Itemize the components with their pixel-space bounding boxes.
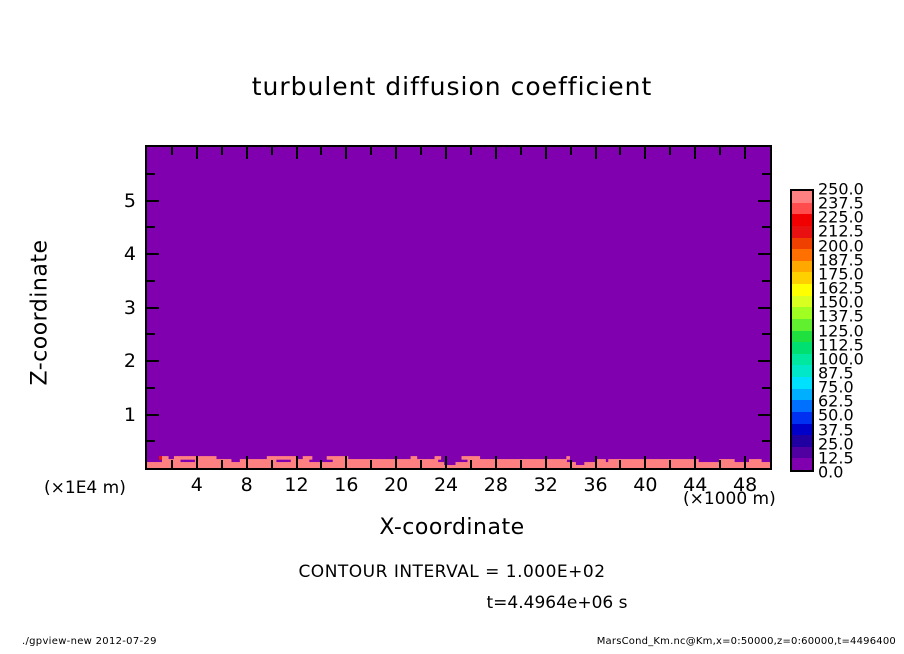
contour-plot-area[interactable] xyxy=(145,145,772,470)
x-axis-tick xyxy=(370,460,372,469)
x-axis-tick xyxy=(296,146,298,159)
y-axis-tick xyxy=(762,226,771,228)
x-axis-unit-label: (×1000 m) xyxy=(683,489,776,509)
y-axis-unit-label: (×1E4 m) xyxy=(44,478,126,498)
x-axis-tick xyxy=(570,460,572,469)
x-axis-tick xyxy=(495,146,497,159)
footer-command-label: ./gpview-new 2012-07-29 xyxy=(22,636,157,647)
y-axis-title: Z-coordinate xyxy=(28,213,53,413)
colorbar-band xyxy=(792,238,812,250)
x-axis-tick xyxy=(495,456,497,469)
y-axis-tick xyxy=(762,280,771,282)
x-axis-tick-label: 20 xyxy=(384,474,408,496)
y-axis-tick xyxy=(762,387,771,389)
x-axis-tick xyxy=(345,146,347,159)
x-axis-title: X-coordinate xyxy=(0,515,904,540)
y-axis-tick xyxy=(758,253,771,255)
y-axis-tick-label: 2 xyxy=(124,350,136,372)
x-axis-tick-label: 8 xyxy=(241,474,253,496)
y-axis-tick xyxy=(146,360,159,362)
x-axis-tick-label: 16 xyxy=(334,474,358,496)
x-axis-tick xyxy=(644,146,646,159)
y-axis-tick-label: 5 xyxy=(124,190,136,212)
x-axis-tick xyxy=(420,460,422,469)
x-axis-tick xyxy=(320,146,322,155)
x-axis-tick xyxy=(196,456,198,469)
x-axis-tick-label: 12 xyxy=(284,474,308,496)
y-axis-tick xyxy=(758,200,771,202)
y-axis-tick xyxy=(762,333,771,335)
colorbar[interactable] xyxy=(790,189,814,472)
x-axis-tick xyxy=(271,460,273,469)
y-axis-tick xyxy=(146,200,159,202)
colorbar-band xyxy=(792,412,812,424)
y-axis-tick-labels: 12345 xyxy=(100,0,136,654)
x-axis-tick xyxy=(445,146,447,159)
colorbar-band xyxy=(792,389,812,401)
x-axis-tick xyxy=(619,460,621,469)
x-axis-tick xyxy=(420,146,422,155)
x-axis-tick xyxy=(520,146,522,155)
colorbar-band xyxy=(792,191,812,203)
contour-interval-label: CONTOUR INTERVAL = 1.000E+02 xyxy=(0,562,904,582)
y-axis-tick xyxy=(762,440,771,442)
colorbar-tick-labels: 250.0237.5225.0212.5200.0187.5175.0162.5… xyxy=(818,180,898,480)
y-axis-tick xyxy=(146,253,159,255)
y-axis-tick xyxy=(146,226,155,228)
x-axis-tick xyxy=(296,456,298,469)
colorbar-band xyxy=(792,203,812,215)
colorbar-band xyxy=(792,424,812,436)
y-axis-tick-label: 1 xyxy=(124,404,136,426)
x-axis-tick xyxy=(694,146,696,159)
x-axis-tick-label: 24 xyxy=(434,474,458,496)
x-axis-tick xyxy=(595,146,597,159)
colorbar-band xyxy=(792,435,812,447)
x-axis-tick xyxy=(669,146,671,155)
x-axis-tick xyxy=(246,146,248,159)
footer-source-label: MarsCond_Km.nc@Km,x=0:50000,z=0:60000,t=… xyxy=(597,636,896,647)
y-axis-tick xyxy=(146,333,155,335)
colorbar-band xyxy=(792,249,812,261)
x-axis-tick xyxy=(644,456,646,469)
x-axis-tick xyxy=(345,456,347,469)
y-axis-tick xyxy=(758,414,771,416)
time-label: t=4.4964e+06 s xyxy=(0,593,904,613)
colorbar-band xyxy=(792,319,812,331)
x-axis-tick xyxy=(246,456,248,469)
colorbar-band xyxy=(792,226,812,238)
x-axis-tick xyxy=(619,146,621,155)
x-axis-tick-label: 36 xyxy=(583,474,607,496)
colorbar-band xyxy=(792,307,812,319)
colorbar-band xyxy=(792,365,812,377)
colorbar-band xyxy=(792,261,812,273)
x-axis-tick xyxy=(221,460,223,469)
x-axis-tick-label: 4 xyxy=(191,474,203,496)
y-axis-tick-label: 4 xyxy=(124,243,136,265)
x-axis-tick xyxy=(669,460,671,469)
colorbar-band xyxy=(792,342,812,354)
x-axis-tick xyxy=(395,456,397,469)
x-axis-tick xyxy=(171,146,173,155)
colorbar-band xyxy=(792,354,812,366)
y-axis-tick xyxy=(146,280,155,282)
x-axis-tick xyxy=(320,460,322,469)
x-axis-tick xyxy=(470,460,472,469)
colorbar-band xyxy=(792,331,812,343)
x-axis-tick xyxy=(470,146,472,155)
colorbar-band xyxy=(792,377,812,389)
x-axis-tick xyxy=(744,456,746,469)
x-axis-tick xyxy=(221,146,223,155)
x-axis-tick xyxy=(719,460,721,469)
x-axis-tick xyxy=(744,146,746,159)
y-axis-tick xyxy=(758,307,771,309)
y-axis-tick xyxy=(146,173,155,175)
x-axis-tick-label: 40 xyxy=(633,474,657,496)
turbulence-field xyxy=(147,147,770,468)
colorbar-band xyxy=(792,214,812,226)
y-axis-tick xyxy=(146,307,159,309)
y-axis-tick xyxy=(146,387,155,389)
x-axis-tick xyxy=(545,146,547,159)
y-axis-tick-label: 3 xyxy=(124,297,136,319)
y-axis-tick xyxy=(146,440,155,442)
colorbar-band xyxy=(792,458,812,470)
colorbar-tick-label: 0.0 xyxy=(818,463,843,482)
x-axis-tick xyxy=(271,146,273,155)
x-axis-tick xyxy=(520,460,522,469)
x-axis-tick xyxy=(445,456,447,469)
y-axis-tick xyxy=(762,173,771,175)
x-axis-tick xyxy=(370,146,372,155)
x-axis-tick xyxy=(719,146,721,155)
x-axis-tick-label: 28 xyxy=(484,474,508,496)
x-axis-tick xyxy=(395,146,397,159)
x-axis-tick xyxy=(171,460,173,469)
x-axis-tick xyxy=(595,456,597,469)
colorbar-band xyxy=(792,447,812,459)
x-axis-tick-label: 32 xyxy=(534,474,558,496)
x-axis-tick xyxy=(196,146,198,159)
x-axis-tick xyxy=(545,456,547,469)
y-axis-tick xyxy=(146,414,159,416)
y-axis-tick xyxy=(758,360,771,362)
x-axis-tick xyxy=(570,146,572,155)
colorbar-band xyxy=(792,296,812,308)
x-axis-tick xyxy=(694,456,696,469)
colorbar-band xyxy=(792,272,812,284)
colorbar-band xyxy=(792,284,812,296)
colorbar-band xyxy=(792,400,812,412)
